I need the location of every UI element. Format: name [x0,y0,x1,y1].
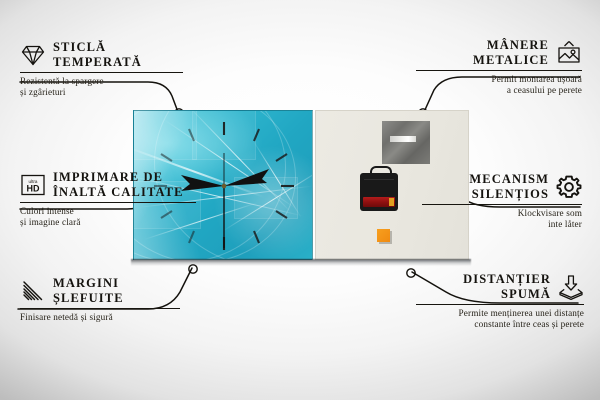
hanger-slot [390,136,416,142]
feature-sub-line1: Klockvisare som [422,208,582,219]
feature-header: MARGINI ȘLEFUITE [20,276,185,306]
mechanism-hook [370,166,392,177]
feature-manere-metalice: MÂNERE METALICE Permit montarea ușoară a… [416,38,582,96]
feature-sub-line2: și zgârieturi [20,87,190,98]
feature-subtitle: Permite menținerea unei distanțe constan… [416,308,584,330]
infographic-stage: STICLĂ TEMPERATĂ Rezistentă la spargere … [0,0,600,400]
feature-sub-line2: inte låter [422,219,582,230]
feature-title: IMPRIMARE DE ÎNALTĂ CALITATE [53,170,184,200]
feature-header: STICLĂ TEMPERATĂ [20,40,190,70]
feature-sub-line2: constante între ceas și perete [416,319,584,330]
feature-title-line2: SPUMĂ [463,287,551,302]
battery-terminal [389,198,394,206]
feature-title: DISTANȚIER SPUMĂ [463,272,551,302]
feature-title-line1: STICLĂ [53,40,142,55]
feature-title-line1: DISTANȚIER [463,272,551,287]
feature-title-line1: MECANISM [469,172,549,187]
feature-mecanism-silentios: MECANISM SILENȚIOS Klockvisare som inte … [422,172,582,230]
feature-title-line2: METALICE [473,53,549,68]
feature-title-line2: SILENȚIOS [469,187,549,202]
feature-subtitle: Finisare netedă și sigură [20,312,185,323]
feature-header: MECANISM SILENȚIOS [422,172,582,202]
feature-title: MECANISM SILENȚIOS [469,172,549,202]
hanger-plate [382,121,430,164]
feature-title: STICLĂ TEMPERATĂ [53,40,142,70]
feature-distantier-spuma: DISTANȚIER SPUMĂ Permite menținerea unei… [416,272,584,330]
feature-subtitle: Klockvisare som inte låter [422,208,582,230]
feature-title-line1: IMPRIMARE DE [53,170,184,185]
feature-rule [20,308,180,309]
feature-sub-line1: Permite menținerea unei distanțe [416,308,584,319]
feature-rule [20,202,196,203]
feature-subtitle: Culori intense și imagine clară [20,206,202,228]
svg-text:HD: HD [27,184,40,194]
feature-header: DISTANȚIER SPUMĂ [416,272,584,302]
feature-sub-line1: Culori intense [20,206,202,217]
feature-title-line1: MARGINI [53,276,124,291]
feature-header: ultra HD IMPRIMARE DE ÎNALTĂ CALITATE [20,170,202,200]
feature-sub-line2: a ceasului pe perete [416,85,582,96]
feature-sub-line1: Rezistentă la spargere [20,76,190,87]
feature-title: MARGINI ȘLEFUITE [53,276,124,306]
feature-rule [416,304,584,305]
feature-title-line2: TEMPERATĂ [53,55,142,70]
feature-sticla-temperata: STICLĂ TEMPERATĂ Rezistentă la spargere … [20,40,190,98]
feature-rule [20,72,183,73]
feature-title-line2: ÎNALTĂ CALITATE [53,185,184,200]
feature-margini-slefuite: MARGINI ȘLEFUITE Finisare netedă și sigu… [20,276,185,323]
feature-subtitle: Permit montarea ușoară a ceasului pe per… [416,74,582,96]
mechanism-seam [364,179,394,180]
foam-spacer [377,229,390,242]
ultra-hd-icon: ultra HD [20,172,46,198]
feature-rule [422,204,582,205]
foam-spacer-icon [558,274,584,300]
battery [363,197,395,207]
quartz-mechanism [360,173,398,211]
feature-title: MÂNERE METALICE [473,38,549,68]
gear-icon [556,174,582,200]
diamond-icon [20,42,46,68]
product-base-shadow [131,259,471,266]
feature-title-line1: MÂNERE [473,38,549,53]
picture-hanger-icon [556,40,582,66]
polished-edges-icon [20,278,46,304]
feature-header: MÂNERE METALICE [416,38,582,68]
feature-subtitle: Rezistentă la spargere și zgârieturi [20,76,190,98]
feature-sub-line2: și imagine clară [20,217,202,228]
feature-sub-line1: Finisare netedă și sigură [20,312,185,323]
feature-imprimare-inalta-calitate: ultra HD IMPRIMARE DE ÎNALTĂ CALITATE Cu… [20,170,202,228]
feature-sub-line1: Permit montarea ușoară [416,74,582,85]
feature-rule [416,70,582,71]
feature-title-line2: ȘLEFUITE [53,291,124,306]
